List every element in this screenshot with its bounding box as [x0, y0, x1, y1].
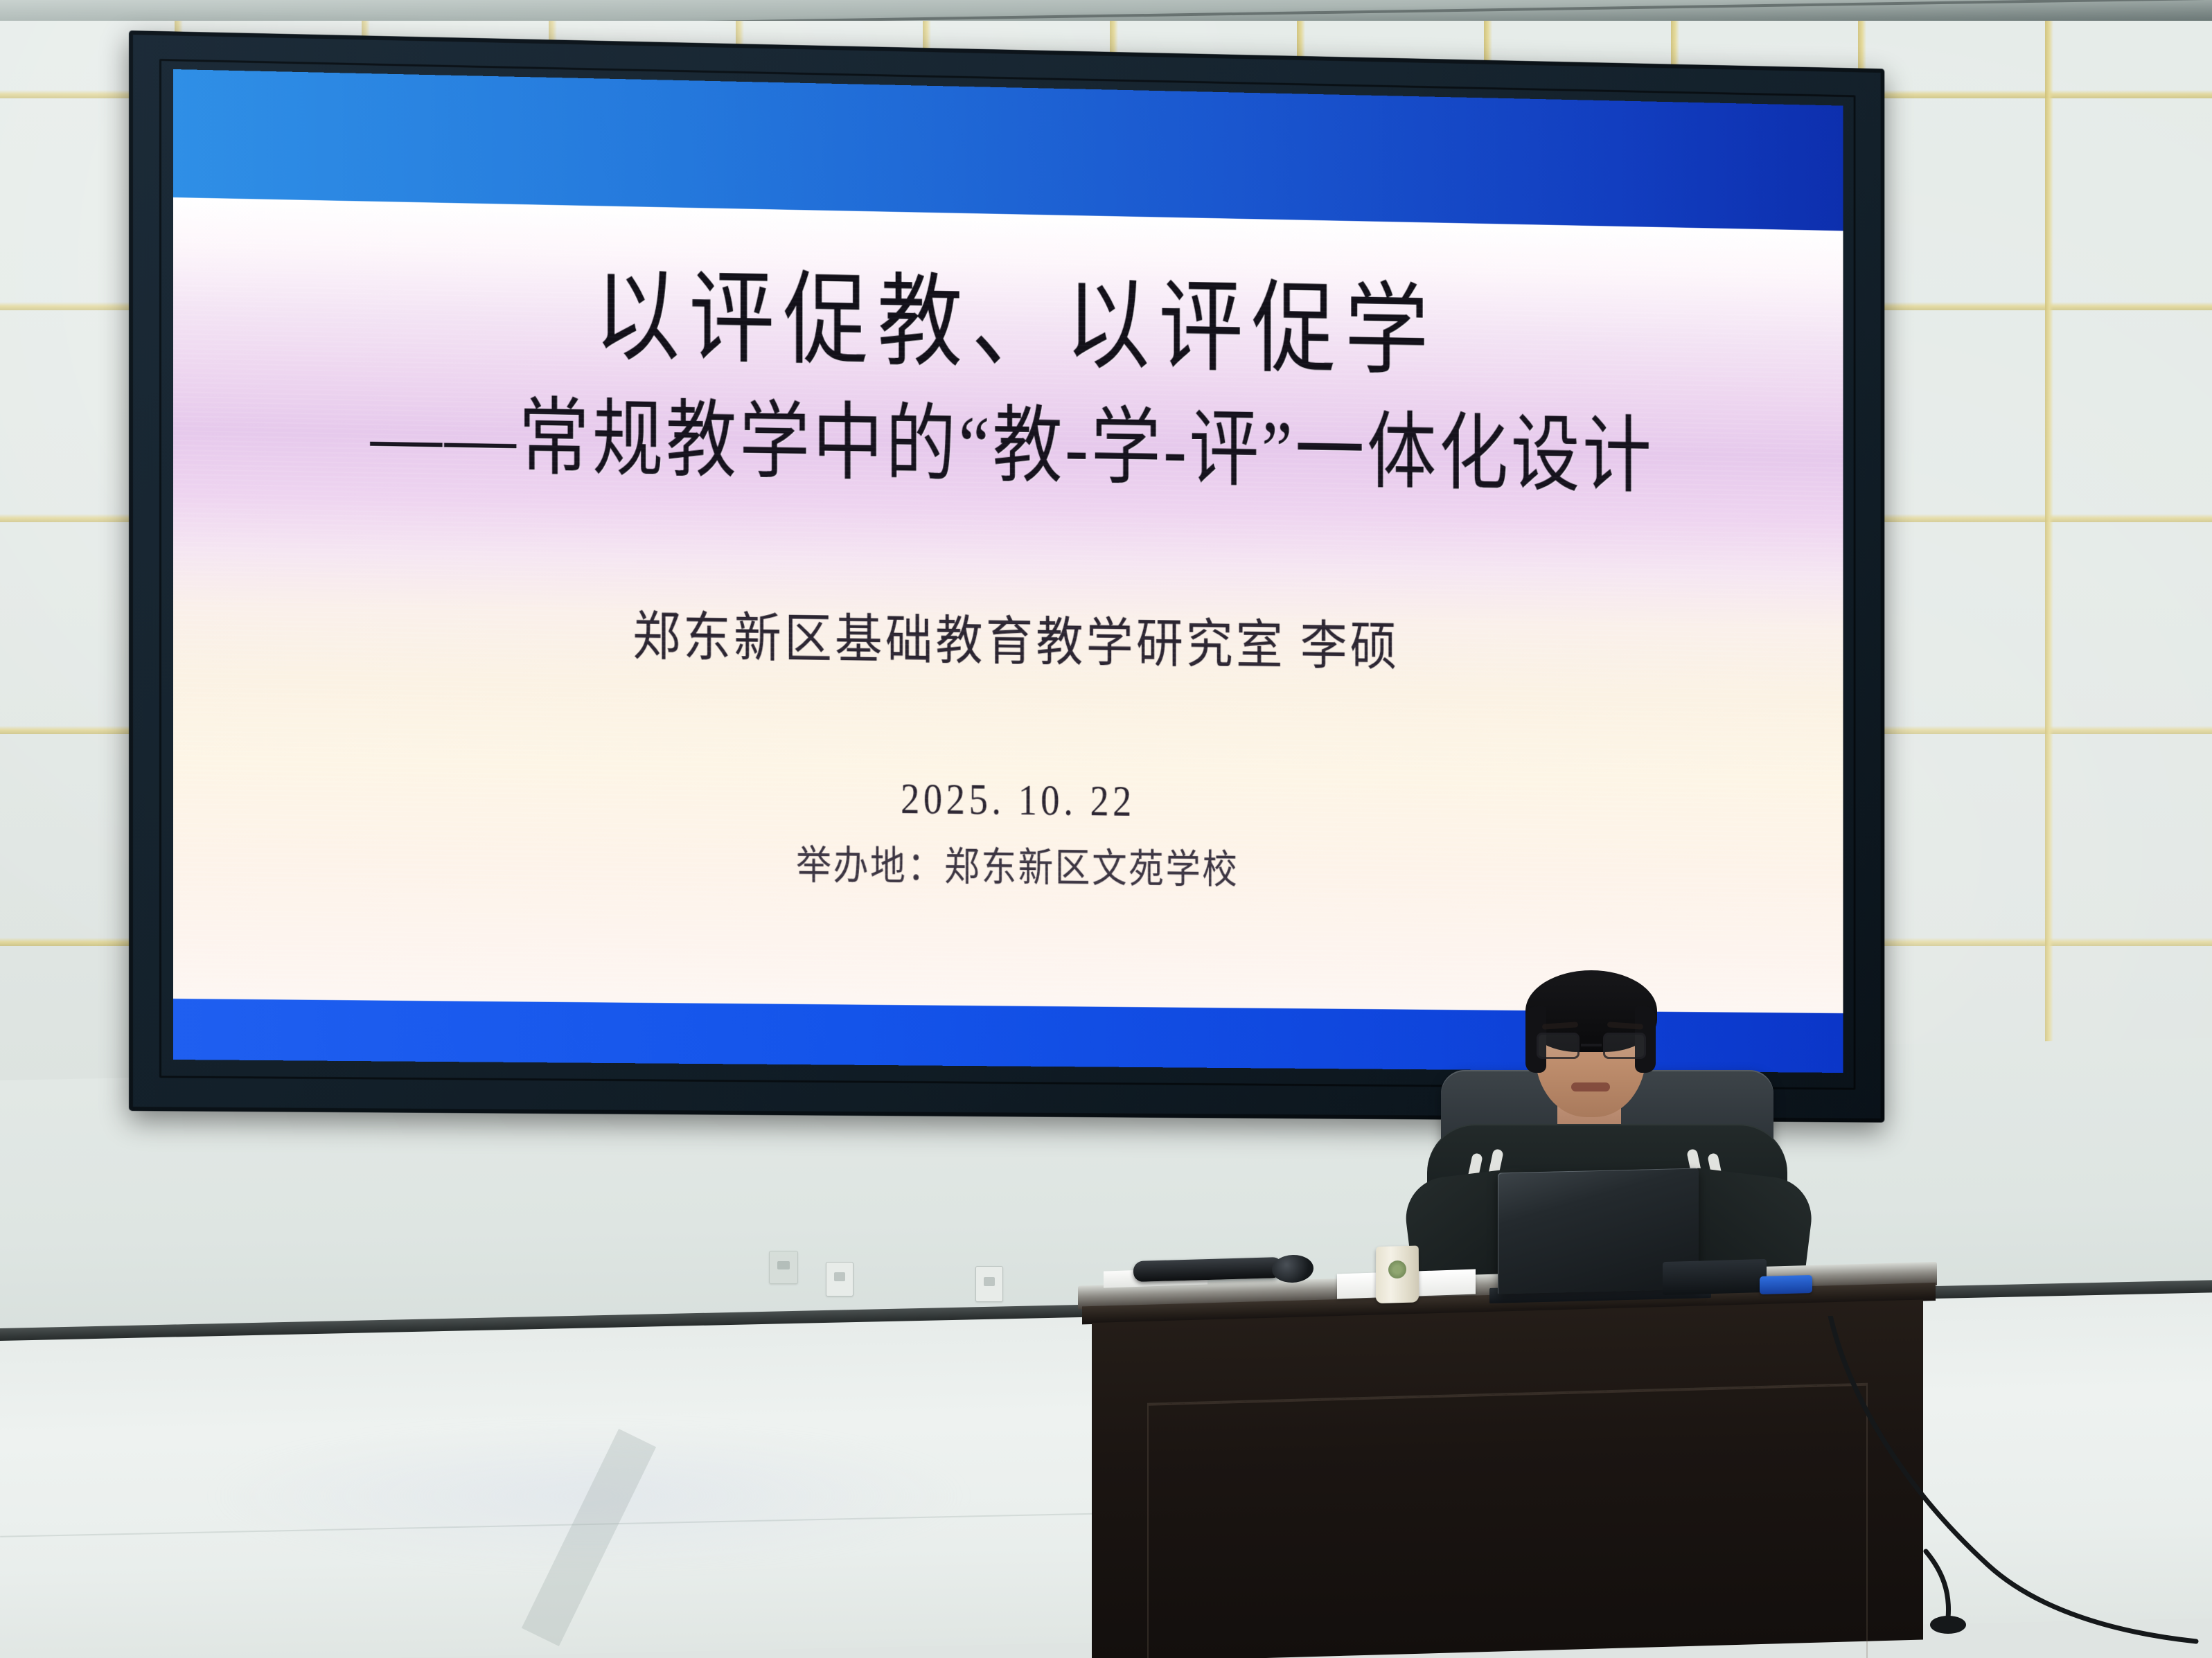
display-panel[interactable]: 以评促教、以评促学 ——常规教学中的“教-学-评”一体化设计 郑东新区基础教育教… [173, 69, 1843, 1073]
podium-raised-panel [1147, 1383, 1868, 1658]
wooden-podium[interactable] [1092, 1262, 1923, 1658]
led-wall-display[interactable]: 以评促教、以评促学 ——常规教学中的“教-学-评”一体化设计 郑东新区基础教育教… [129, 30, 1930, 1111]
outlet-slot [777, 1261, 790, 1269]
slide-content-area: 以评促教、以评促学 ——常规教学中的“教-学-评”一体化设计 郑东新区基础教育教… [173, 197, 1843, 1013]
slide-venue: 举办地：郑东新区文苑学校 [796, 832, 1239, 894]
wireless-microphone[interactable] [1133, 1257, 1282, 1282]
blue-device[interactable] [1760, 1275, 1812, 1294]
dark-desk-object[interactable] [1663, 1259, 1767, 1295]
glasses-lens [1537, 1033, 1580, 1059]
cup-logo-icon [1388, 1260, 1406, 1279]
wall-outlet-plate-left[interactable] [769, 1251, 798, 1284]
wall-outlet-plate-right[interactable] [975, 1266, 1003, 1302]
slide-title-main: 以评促教、以评促学 [594, 261, 1437, 389]
outlet-slot [834, 1272, 846, 1281]
paper-coffee-cup[interactable] [1376, 1245, 1419, 1303]
glasses-lens [1603, 1033, 1646, 1059]
slide-title-subtitle: ——常规教学中的“教-学-评”一体化设计 [371, 386, 1654, 508]
conference-room-scene: 以评促教、以评促学 ——常规教学中的“教-学-评”一体化设计 郑东新区基础教育教… [0, 0, 2212, 1658]
wall-outlet-plate-middle[interactable] [826, 1262, 853, 1296]
glasses-icon [1535, 1033, 1647, 1060]
slide-date: 2025. 10. 22 [901, 775, 1135, 827]
outlet-slot [984, 1277, 996, 1286]
slide-presenter-line: 郑东新区基础教育教学研究室 李硕 [632, 594, 1399, 680]
glasses-bridge [1581, 1044, 1602, 1046]
slide-text-block: 以评促教、以评促学 ——常规教学中的“教-学-评”一体化设计 郑东新区基础教育教… [173, 197, 1843, 1013]
mouth [1571, 1082, 1610, 1091]
podium-front-face [1092, 1299, 1923, 1658]
presentation-slide: 以评促教、以评促学 ——常规教学中的“教-学-评”一体化设计 郑东新区基础教育教… [173, 69, 1843, 1073]
